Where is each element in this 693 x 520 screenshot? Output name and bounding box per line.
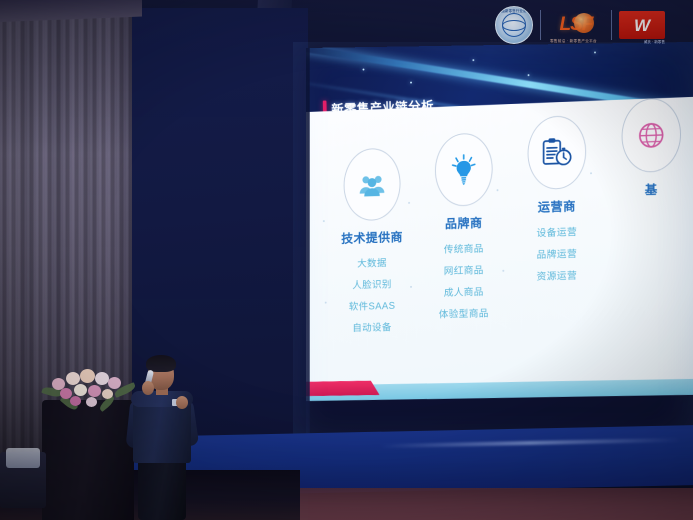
sponsor-logo-bar: 中国新零售行业协会 LSF 零售前沿 · 新零售产业平台 W 威氏 · 新零售: [488, 6, 672, 44]
flower: [66, 372, 80, 385]
column-item: 传统商品: [418, 239, 510, 256]
flower: [95, 372, 109, 385]
slide-columns: 技术提供商 大数据 人脸识别 软件SAAS 自动设备: [306, 97, 693, 393]
lightbulb-icon: [435, 132, 493, 207]
column-item: 体验型商品: [418, 304, 510, 321]
people-group-icon: [344, 147, 401, 221]
podium: [42, 400, 134, 520]
column-item: 人脸识别: [327, 275, 418, 292]
column-item: 网红商品: [418, 261, 510, 278]
lsf-orange-ball-icon: [574, 13, 594, 33]
conference-photo: 新零售产业链分析: [0, 0, 693, 520]
column-items: 设备运营 品牌运营 资源运营: [510, 222, 604, 283]
column-item: 大数据: [327, 253, 418, 270]
column-title: 技术提供商: [327, 226, 418, 247]
globe-emblem-icon: 中国新零售行业协会: [495, 6, 533, 44]
globe-network-icon: [622, 97, 681, 173]
slide-column-operator: 运营商 设备运营 品牌运营 资源运营: [510, 114, 604, 283]
flower: [80, 369, 95, 383]
emblem-ring-text: 中国新零售行业协会: [498, 8, 530, 13]
projection-screen: 新零售产业链分析: [306, 42, 693, 442]
column-item: 设备运营: [510, 222, 604, 240]
speaker-legs: [138, 459, 186, 520]
sparkle-dot: [528, 74, 530, 76]
slide-column-brand-owner: 品牌商 传统商品 网红商品 成人商品 体验型商品: [418, 132, 510, 321]
flower-arrangement: [40, 366, 138, 414]
column-item: 成人商品: [418, 282, 510, 299]
flower: [108, 377, 121, 389]
flower: [102, 389, 113, 399]
slide-column-technology-provider: 技术提供商 大数据 人脸识别 软件SAAS 自动设备: [327, 147, 418, 335]
slide-content-layer: 技术提供商 大数据 人脸识别 软件SAAS 自动设备: [306, 97, 693, 393]
screen-left-edge: [306, 48, 310, 436]
eagle-w-logo-box: W 威氏 · 新零售: [619, 11, 665, 39]
slide-footer-pink-tab: [306, 380, 380, 396]
decor-dot: [323, 220, 325, 222]
column-item: 资源运营: [510, 266, 604, 283]
column-item: 自动设备: [327, 318, 418, 335]
speaker-left-hand: [142, 381, 154, 395]
column-items: 传统商品 网红商品 成人商品 体验型商品: [418, 239, 510, 321]
table-cloth: [6, 448, 40, 468]
flower: [88, 385, 101, 397]
flower: [70, 396, 81, 406]
column-item: 软件SAAS: [327, 297, 418, 314]
eagle-w-logo: W 威氏 · 新零售: [612, 11, 672, 39]
decor-dot: [325, 302, 327, 304]
speaker-right-hand: [176, 396, 188, 409]
column-item: 品牌运营: [510, 244, 604, 261]
lsf-logo-subtitle: 零售前沿 · 新零售产业平台: [550, 39, 597, 44]
sparkle-dot: [472, 59, 474, 61]
sparkle-dot: [363, 69, 365, 71]
clipboard-timer-icon: [528, 115, 587, 190]
globe-emblem-logo: 中国新零售行业协会: [488, 6, 540, 44]
sparkle-dot: [594, 51, 596, 53]
column-items: 大数据 人脸识别 软件SAAS 自动设备: [327, 253, 418, 334]
lsf-logo: LSF 零售前沿 · 新零售产业平台: [541, 10, 611, 40]
flower: [74, 384, 87, 396]
decor-dot: [502, 270, 504, 272]
flower: [86, 397, 97, 407]
eagle-w-subtitle: 威氏 · 新零售: [644, 40, 665, 45]
slide-column-infrastructure: 基: [604, 97, 693, 200]
column-title: 运营商: [510, 195, 604, 217]
column-title: 品牌商: [418, 211, 510, 232]
lsf-logo-mark: LSF 零售前沿 · 新零售产业平台: [548, 10, 604, 40]
decor-dot: [408, 202, 410, 204]
column-title: 基: [604, 178, 693, 200]
sparkle-dot: [410, 82, 412, 84]
decor-dot: [410, 286, 412, 288]
eagle-w-mark: W: [634, 17, 650, 34]
